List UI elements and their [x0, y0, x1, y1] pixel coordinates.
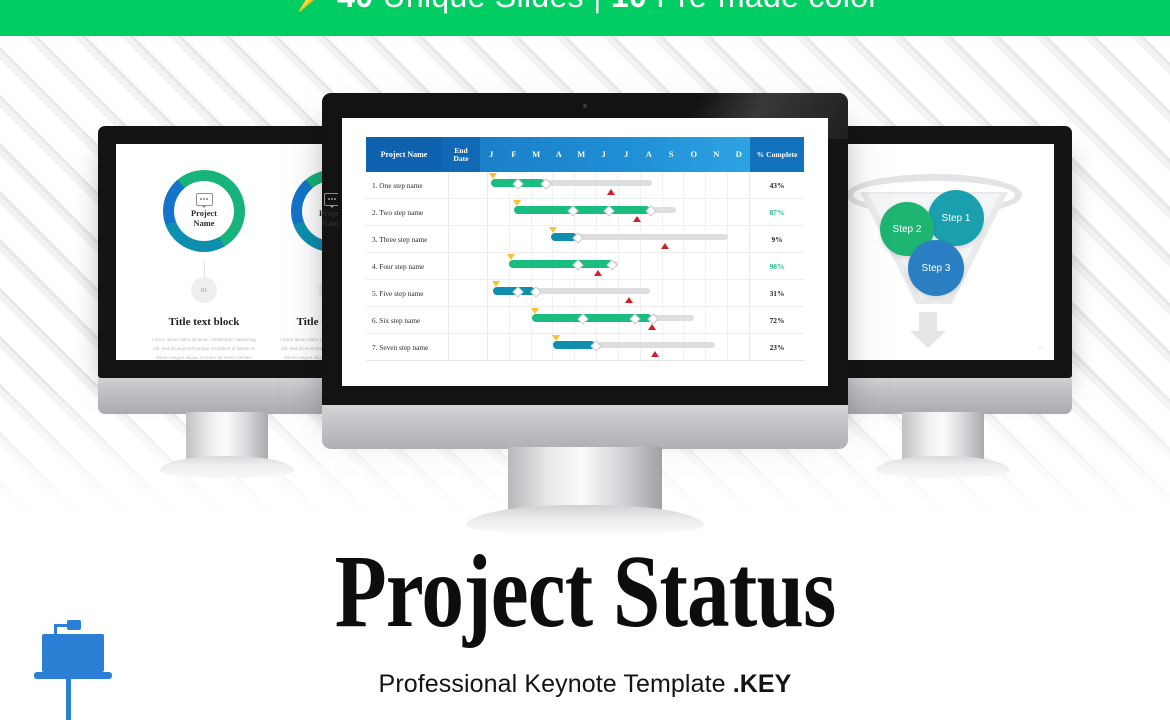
gantt-header-month-1: J — [480, 137, 503, 172]
gantt-bar[interactable] — [509, 260, 619, 268]
right-monitor-screen: Step 1 Step 2 Step 3 14 — [832, 144, 1054, 360]
gantt-table: Project Name EndDate JFMAMJJASOND % Comp… — [366, 137, 804, 361]
page-subtitle: Professional Keynote Template .KEY — [0, 670, 1170, 699]
promo-banner-text: 40 Unique Slides | 10 Pre-made color — [337, 0, 879, 12]
right-monitor-base — [876, 456, 1010, 478]
gantt-header-month-5: M — [570, 137, 593, 172]
gantt-bar[interactable] — [493, 287, 650, 295]
slides-count: 40 — [337, 0, 373, 14]
colors-count: 10 — [611, 0, 647, 14]
gantt-header-row: Project Name EndDate JFMAMJJASOND % Comp… — [366, 137, 804, 172]
gantt-alert-marker-icon — [661, 243, 669, 249]
table-row[interactable]: 4. Four step name98% — [366, 253, 804, 280]
gantt-header-project-name: Project Name — [366, 137, 442, 172]
gantt-flag-marker-icon — [531, 308, 539, 314]
gantt-flag-marker-icon — [489, 173, 497, 179]
gantt-flag-marker-icon — [492, 281, 500, 287]
user-icon — [324, 193, 339, 206]
gantt-header-month-4: A — [548, 137, 571, 172]
funnel-step-1[interactable]: Step 1 — [928, 190, 984, 246]
gantt-header-end-date: EndDate — [442, 137, 480, 172]
gantt-row-name: 5. Five step name — [366, 280, 449, 306]
gantt-header-month-6: J — [593, 137, 616, 172]
subtitle-suffix: .KEY — [733, 670, 792, 698]
donut-center-1: Project Name — [163, 170, 245, 252]
step-number-badge-1: 01 — [191, 277, 217, 303]
slides-text: Unique Slides — [383, 0, 584, 14]
gantt-row-track — [488, 280, 749, 306]
table-row[interactable]: 2. Two step name87% — [366, 199, 804, 226]
gantt-row-end-date — [449, 307, 488, 333]
gantt-bar[interactable] — [491, 179, 653, 187]
gantt-row-end-date — [449, 199, 488, 225]
left-monitor: Project Name 01 Title text block Lorem i… — [98, 126, 356, 486]
card-body-1: Lorem ipsum dolor sit amet, consectetur … — [140, 335, 268, 360]
gantt-row-name: 3. Three step name — [366, 226, 449, 252]
table-row[interactable]: 1. One step name43% — [366, 172, 804, 199]
gantt-bar[interactable] — [514, 206, 676, 214]
gantt-bar[interactable] — [553, 341, 715, 349]
gantt-row-track — [488, 307, 749, 333]
gantt-row-track — [488, 199, 749, 225]
center-monitor-screen: Project Name EndDate JFMAMJJASOND % Comp… — [342, 118, 828, 386]
funnel-step-3[interactable]: Step 3 — [908, 240, 964, 296]
gantt-row-name: 7. Seven step name — [366, 334, 449, 360]
gantt-bar-fill — [553, 341, 595, 349]
gantt-header-month-8: A — [638, 137, 661, 172]
gantt-row-percent: 23% — [749, 334, 804, 360]
speech-bubble-icon — [196, 193, 213, 206]
gantt-header-months: JFMAMJJASOND — [480, 137, 750, 172]
donut-label-line1: Project — [191, 209, 217, 220]
gantt-flag-marker-icon — [507, 254, 515, 260]
gantt-bar-fill — [509, 260, 613, 268]
gantt-bar[interactable] — [532, 314, 694, 322]
gantt-row-end-date — [449, 253, 488, 279]
page-title: Project Status — [105, 540, 1064, 644]
slide-page-number: 14 — [1037, 345, 1043, 351]
gantt-bar-fill — [514, 206, 650, 214]
gantt-row-name: 6. Six step name — [366, 307, 449, 333]
center-monitor-base — [466, 505, 704, 535]
gantt-flag-marker-icon — [552, 335, 560, 341]
gantt-row-percent: 43% — [749, 172, 804, 198]
banner-separator: | — [593, 0, 602, 14]
table-row[interactable]: 3. Three step name9% — [366, 226, 804, 253]
gantt-row-track — [488, 226, 749, 252]
table-row[interactable]: 7. Seven step name23% — [366, 334, 804, 361]
gantt-header-month-9: S — [660, 137, 683, 172]
funnel-slide: Step 1 Step 2 Step 3 14 — [832, 144, 1054, 360]
gantt-row-percent: 87% — [749, 199, 804, 225]
gantt-row-name: 2. Two step name — [366, 199, 449, 225]
gantt-header-month-2: F — [503, 137, 526, 172]
right-monitor: Step 1 Step 2 Step 3 14 — [814, 126, 1072, 486]
right-monitor-chin — [814, 378, 1072, 414]
gantt-bar[interactable] — [551, 233, 728, 241]
gantt-row-end-date — [449, 226, 488, 252]
promo-banner: ⚡ 40 Unique Slides | 10 Pre-made color — [0, 0, 1170, 36]
center-monitor-bezel: Project Name EndDate JFMAMJJASOND % Comp… — [322, 93, 848, 411]
gantt-alert-marker-icon — [607, 189, 615, 195]
gantt-header-percent: % Complete — [750, 137, 804, 172]
gantt-alert-marker-icon — [633, 216, 641, 222]
gantt-row-track — [488, 253, 749, 279]
gantt-alert-marker-icon — [594, 270, 602, 276]
left-monitor-screen: Project Name 01 Title text block Lorem i… — [116, 144, 338, 360]
gantt-alert-marker-icon — [625, 297, 633, 303]
funnel-step-3-label: Step 3 — [922, 263, 951, 274]
gantt-row-percent: 72% — [749, 307, 804, 333]
gantt-header-month-10: O — [683, 137, 706, 172]
donut-slide: Project Name 01 Title text block Lorem i… — [116, 144, 338, 360]
funnel-step-2-label: Step 2 — [893, 224, 922, 235]
subtitle-prefix: Professional Keynote Template — [379, 670, 733, 698]
donut-card-1: Project Name 01 Title text block Lorem i… — [140, 170, 268, 360]
table-row[interactable]: 6. Six step name72% — [366, 307, 804, 334]
donut-label2-line2: Name — [319, 219, 338, 230]
gantt-row-name: 4. Four step name — [366, 253, 449, 279]
gantt-row-end-date — [449, 280, 488, 306]
keynote-presentation-icon — [24, 616, 120, 720]
gantt-header-month-12: D — [728, 137, 751, 172]
connector-stem — [204, 261, 205, 277]
donut-center-2: Project Name — [291, 170, 338, 252]
gantt-row-percent: 9% — [749, 226, 804, 252]
donut-chart-2: Project Name — [291, 170, 338, 252]
gantt-row-percent: 98% — [749, 253, 804, 279]
gantt-flag-marker-icon — [513, 200, 521, 206]
left-monitor-chin — [98, 378, 356, 414]
gantt-alert-marker-icon — [651, 351, 659, 357]
gantt-alert-marker-icon — [648, 324, 656, 330]
gantt-row-track — [488, 172, 749, 198]
gantt-header-month-11: N — [705, 137, 728, 172]
table-row[interactable]: 5. Five step name31% — [366, 280, 804, 307]
gantt-body: 1. One step name43%2. Two step name87%3.… — [366, 172, 804, 361]
webcam-icon — [583, 104, 587, 108]
donut-chart-1: Project Name — [163, 170, 245, 252]
gantt-row-percent: 31% — [749, 280, 804, 306]
left-monitor-base — [160, 456, 294, 478]
gantt-row-track — [488, 334, 749, 360]
donut-label-line2: Name — [191, 219, 217, 230]
donut-label2-line1: Project — [319, 209, 338, 220]
funnel-step-1-label: Step 1 — [942, 213, 971, 224]
colors-text: Pre-made color — [656, 0, 879, 14]
gantt-header-month-3: M — [525, 137, 548, 172]
gantt-row-end-date — [449, 334, 488, 360]
gantt-flag-marker-icon — [549, 227, 557, 233]
poster-stage: Project Name 01 Title text block Lorem i… — [0, 0, 1170, 720]
center-monitor-chin — [322, 405, 848, 449]
gantt-row-end-date — [449, 172, 488, 198]
card-title-1: Title text block — [140, 316, 268, 328]
gantt-row-name: 1. One step name — [366, 172, 449, 198]
gantt-header-month-7: J — [615, 137, 638, 172]
lightning-bolt-icon: ⚡ — [291, 0, 328, 11]
